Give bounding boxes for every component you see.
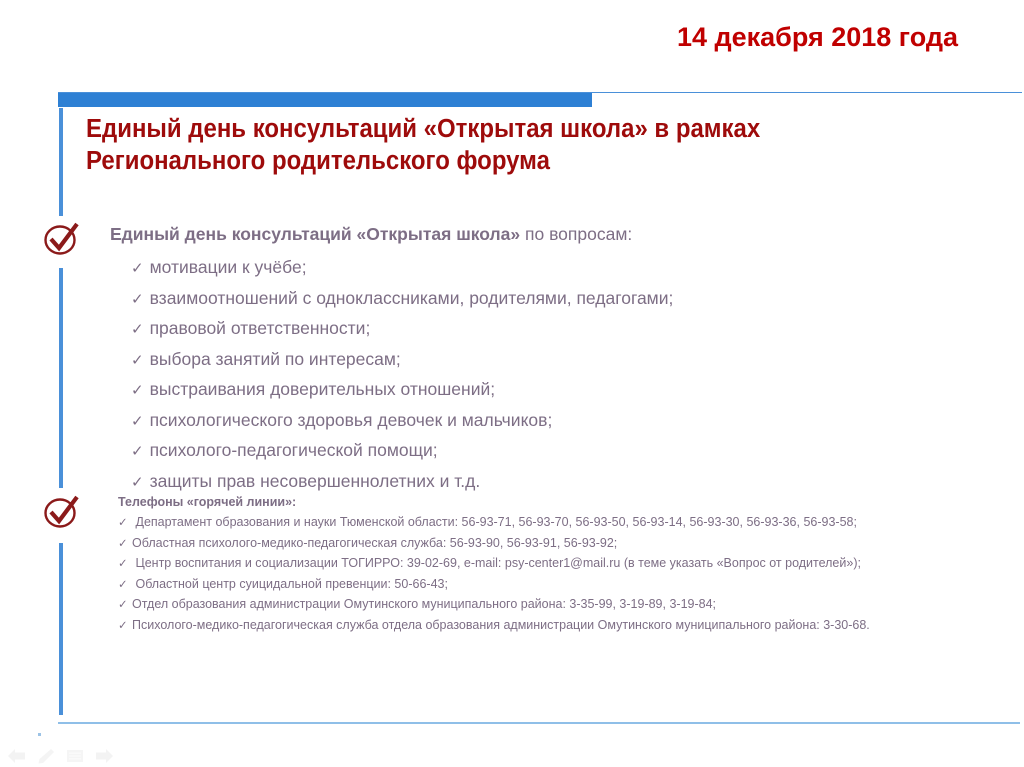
check-tick-icon: ✓ [131,321,144,338]
list-item-label: мотивации к учёбе; [150,257,307,277]
arrow-right-icon[interactable] [95,748,115,764]
list-item: ✓правовой ответственности; [131,314,951,345]
topic-list: ✓мотивации к учёбе; ✓взаимоотношений с о… [131,253,951,497]
hotline-block: Телефоны «горячей линии»: ✓ Департамент … [118,495,930,637]
list-item-label: Отдел образования администрации Омутинск… [132,597,716,611]
check-tick-icon: ✓ [118,515,132,533]
check-tick-icon: ✓ [131,260,144,277]
check-circle-icon [42,219,82,259]
left-spine-segment-bottom [59,543,63,715]
check-tick-icon: ✓ [131,474,144,491]
top-accent-bar [58,93,592,107]
section-lead-bold: Единый день консультаций «Открытая школа… [110,224,520,244]
check-tick-icon: ✓ [118,618,132,636]
list-item-label: Департамент образования и науки Тюменско… [132,515,857,529]
list-item: ✓Психолого-медико-педагогическая служба … [118,617,930,636]
list-item: ✓психологического здоровья девочек и мал… [131,406,951,437]
list-item-label: выстраивания доверительных отношений; [150,379,496,399]
list-item: ✓выбора занятий по интересам; [131,345,951,376]
list-item-label: выбора занятий по интересам; [150,349,401,369]
section-lead-line: Единый день консультаций «Открытая школа… [110,224,632,245]
list-item-label: правовой ответственности; [150,318,371,338]
list-item: ✓ Областной центр суицидальной превенции… [118,576,930,595]
list-item: ✓ Центр воспитания и социализации ТОГИРР… [118,555,930,574]
left-spine-segment-middle [59,268,63,488]
check-circle-icon [42,492,82,532]
check-tick-icon: ✓ [131,443,144,460]
list-item-label: Центр воспитания и социализации ТОГИРРО:… [132,556,861,570]
list-item: ✓защиты прав несовершеннолетних и т.д. [131,467,951,498]
check-tick-icon: ✓ [131,382,144,399]
check-tick-icon: ✓ [118,556,132,574]
list-item: ✓Отдел образования администрации Омутинс… [118,596,930,615]
list-item: ✓Областная психолого-медико-педагогическ… [118,535,930,554]
list-item-label: психологического здоровья девочек и маль… [150,410,553,430]
section-lead-rest: по вопросам: [520,224,632,244]
check-tick-icon: ✓ [131,291,144,308]
list-item-label: Областной центр суицидальной превенции: … [132,577,448,591]
list-item: ✓выстраивания доверительных отношений; [131,375,951,406]
check-tick-icon: ✓ [118,536,132,554]
slide-title: Единый день консультаций «Открытая школа… [86,113,913,178]
check-tick-icon: ✓ [131,413,144,430]
arrow-left-icon[interactable] [6,748,26,764]
bottom-rule [58,722,1020,724]
list-item-label: психолого-педагогической помощи; [150,440,438,460]
list-item-label: Областная психолого-медико-педагогическа… [132,536,617,550]
check-tick-icon: ✓ [118,597,132,615]
menu-icon[interactable] [66,748,84,764]
check-tick-icon: ✓ [131,352,144,369]
hotline-title: Телефоны «горячей линии»: [118,495,930,509]
pencil-icon[interactable] [37,748,55,764]
list-item: ✓ Департамент образования и науки Тюменс… [118,514,930,533]
tiny-blue-dot [38,733,41,736]
list-item: ✓взаимоотношений с одноклассниками, роди… [131,284,951,315]
bottom-toolbar[interactable] [6,748,115,764]
list-item-label: Психолого-медико-педагогическая служба о… [132,618,870,632]
left-spine-segment-top [59,108,63,216]
list-item-label: взаимоотношений с одноклассниками, родит… [150,288,674,308]
list-item: ✓психолого-педагогической помощи; [131,436,951,467]
list-item: ✓мотивации к учёбе; [131,253,951,284]
list-item-label: защиты прав несовершеннолетних и т.д. [150,471,481,491]
date-header: 14 декабря 2018 года [677,22,958,53]
check-tick-icon: ✓ [118,577,132,595]
